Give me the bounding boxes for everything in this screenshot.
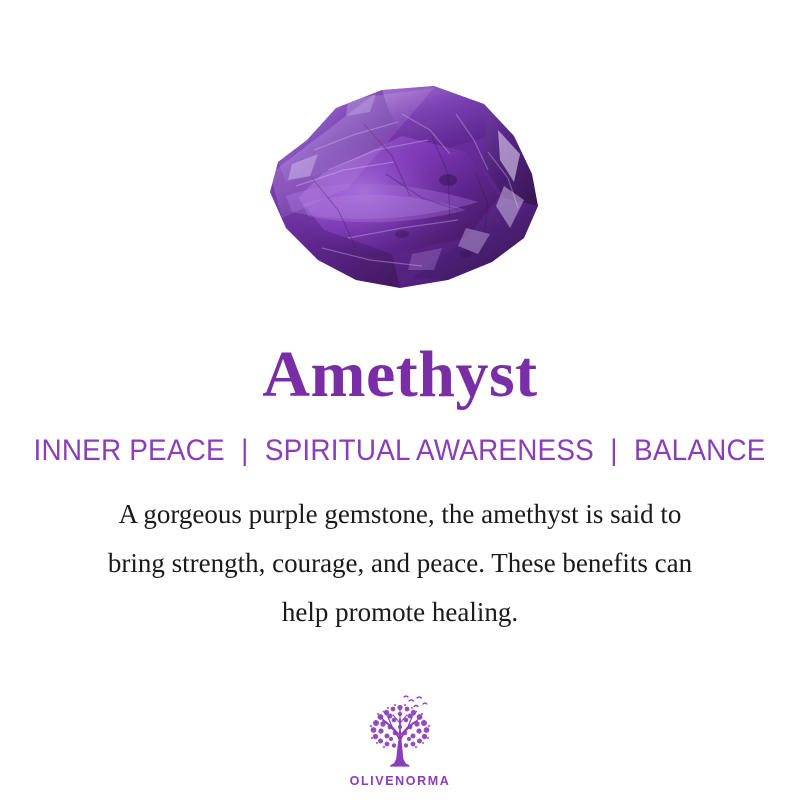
gemstone-illustration <box>252 78 552 296</box>
description-line: bring strength, courage, and peace. Thes… <box>50 539 750 588</box>
attribute-separator: | <box>233 434 257 468</box>
attribute-spiritual-awareness: SPIRITUAL AWARENESS <box>265 434 594 467</box>
description-line: A gorgeous purple gemstone, the amethyst… <box>50 490 750 539</box>
logo-wordmark: OLIVENORMA <box>350 771 451 788</box>
tree-of-life-icon <box>357 693 443 771</box>
amethyst-gemstone-image <box>252 78 552 296</box>
hero-image-stage <box>0 0 800 318</box>
attribute-inner-peace: INNER PEACE <box>34 434 225 467</box>
amethyst-info-card: Amethyst INNER PEACE | SPIRITUAL AWARENE… <box>0 0 800 800</box>
brand-logo: OLIVENORMA <box>0 693 800 788</box>
attribute-separator: | <box>602 434 626 468</box>
attributes-line: INNER PEACE | SPIRITUAL AWARENESS | BALA… <box>34 408 766 468</box>
description-line: help promote healing. <box>50 588 750 637</box>
attribute-balance: BALANCE <box>634 434 766 467</box>
page-title: Amethyst <box>262 318 537 408</box>
description-text: A gorgeous purple gemstone, the amethyst… <box>50 468 750 637</box>
